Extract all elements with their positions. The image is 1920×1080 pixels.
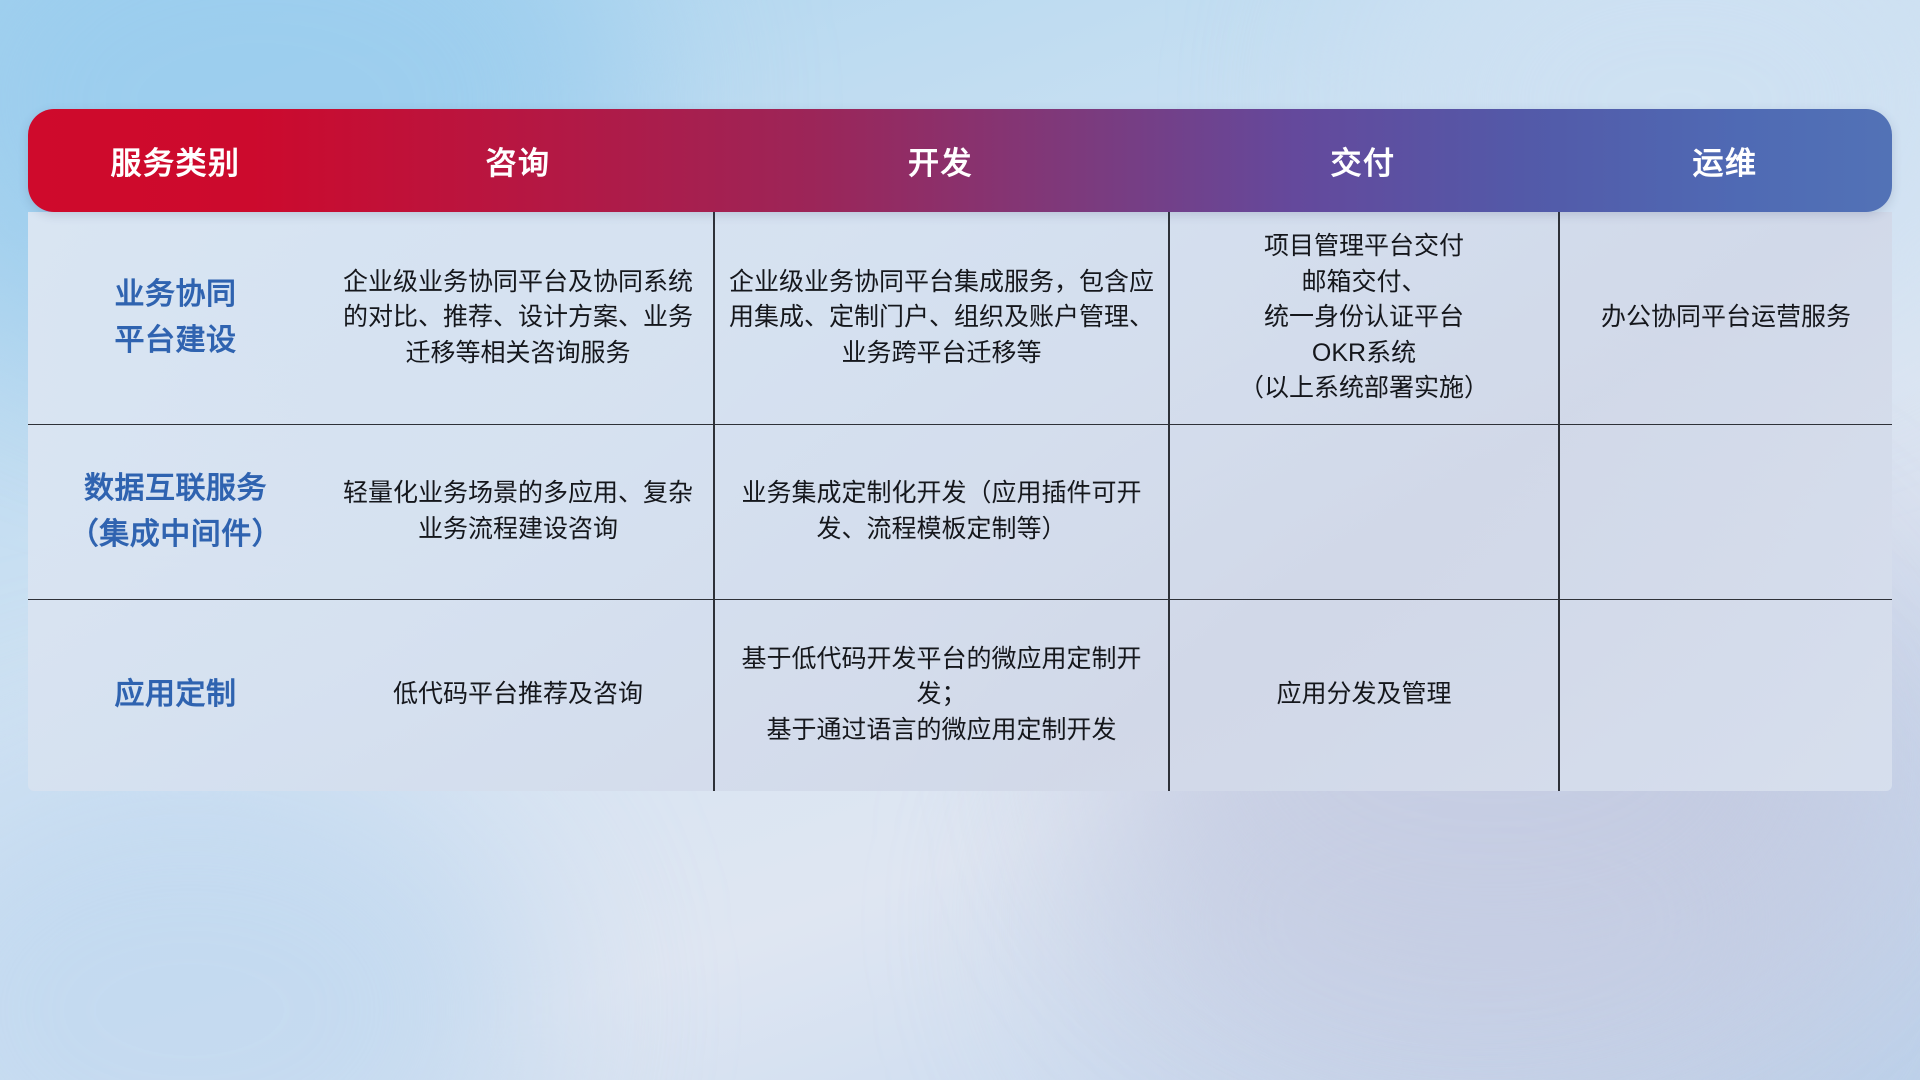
table-body: 业务协同 平台建设 企业级业务协同平台及协同系统的对比、推荐、设计方案、业务迁移…	[28, 212, 1892, 791]
cell-development: 企业级业务协同平台集成服务，包含应用集成、定制门户、组织及账户管理、业务跨平台迁…	[713, 212, 1168, 424]
cell-operations: 办公协同平台运营服务	[1558, 212, 1892, 424]
cell-consulting: 企业级业务协同平台及协同系统的对比、推荐、设计方案、业务迁移等相关咨询服务	[323, 212, 713, 424]
table-row: 业务协同 平台建设 企业级业务协同平台及协同系统的对比、推荐、设计方案、业务迁移…	[28, 212, 1892, 424]
row-category-label: 业务协同 平台建设	[28, 212, 323, 424]
cell-delivery: 应用分发及管理	[1168, 599, 1558, 791]
table-row: 应用定制 低代码平台推荐及咨询 基于低代码开发平台的微应用定制开发； 基于通过语…	[28, 599, 1892, 791]
cell-development: 业务集成定制化开发（应用插件可开发、流程模板定制等）	[713, 424, 1168, 599]
cell-operations	[1558, 599, 1892, 791]
cell-consulting: 低代码平台推荐及咨询	[323, 599, 713, 791]
column-header-consulting: 咨询	[323, 109, 713, 212]
cell-operations	[1558, 424, 1892, 599]
row-category-label: 应用定制	[28, 599, 323, 791]
row-category-label: 数据互联服务 （集成中间件）	[28, 424, 323, 599]
column-header-development: 开发	[713, 109, 1168, 212]
table-row: 数据互联服务 （集成中间件） 轻量化业务场景的多应用、复杂业务流程建设咨询 业务…	[28, 424, 1892, 599]
column-header-delivery: 交付	[1168, 109, 1558, 212]
background-blob-bottom-left	[0, 740, 540, 1080]
column-header-operations: 运维	[1558, 109, 1892, 212]
slide-canvas: 服务类别 咨询 开发 交付 运维 业务协同 平台建设 企业级业务协同平台及协同系…	[0, 0, 1920, 1080]
table-header-row: 服务类别 咨询 开发 交付 运维	[28, 109, 1892, 212]
cell-development: 基于低代码开发平台的微应用定制开发； 基于通过语言的微应用定制开发	[713, 599, 1168, 791]
cell-delivery	[1168, 424, 1558, 599]
cell-consulting: 轻量化业务场景的多应用、复杂业务流程建设咨询	[323, 424, 713, 599]
cell-delivery: 项目管理平台交付 邮箱交付、 统一身份认证平台 OKR系统 （以上系统部署实施）	[1168, 212, 1558, 424]
column-header-category: 服务类别	[28, 109, 323, 212]
service-matrix-table: 服务类别 咨询 开发 交付 运维 业务协同 平台建设 企业级业务协同平台及协同系…	[28, 109, 1892, 791]
